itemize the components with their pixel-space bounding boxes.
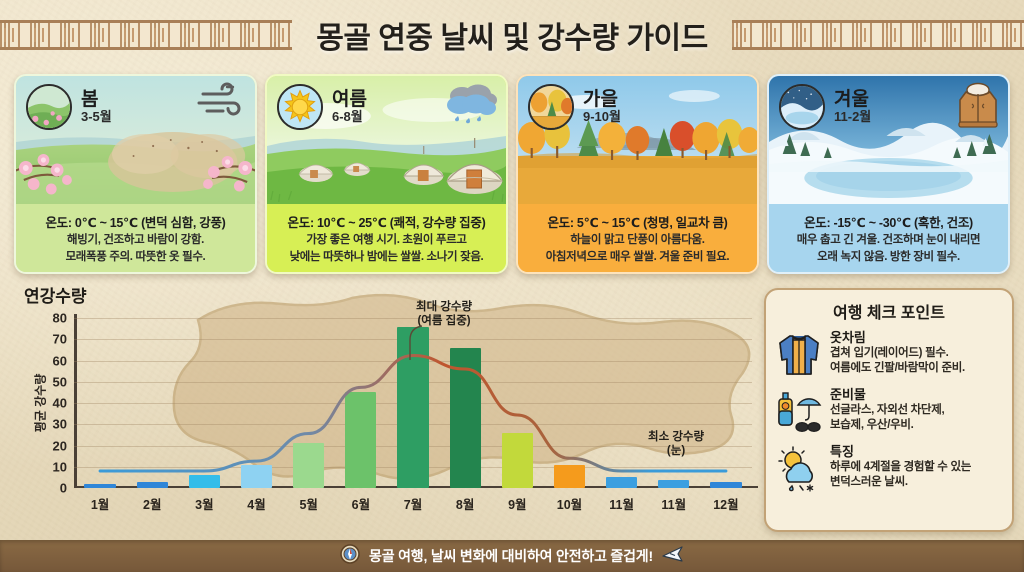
x-tick-label: 1월 (91, 494, 109, 513)
season-name: 겨울 (834, 90, 871, 110)
spring-info: 온도: 0℃ ~ 15℃ (변덕 심함, 강풍) 해빙기, 건조하고 바람이 강… (16, 204, 255, 272)
y-tick-label: 40 (53, 396, 67, 411)
x-tick-label: 6월 (352, 494, 370, 513)
season-card-winter[interactable]: 겨울 11-2월 온도: (767, 74, 1010, 274)
autumn-badge-row: 가을 9-10월 (528, 84, 747, 130)
season-desc-1: 가장 좋은 여행 시기. 초원이 푸르고 (306, 233, 466, 248)
check-item-body-2: 변덕스러운 날씨. (830, 475, 971, 490)
spring-scene: 봄 3-5월 (16, 76, 255, 204)
y-tick-label: 10 (53, 459, 67, 474)
y-tick-label: 30 (53, 417, 67, 432)
season-name: 가을 (583, 90, 621, 110)
greek-key-border-icon (732, 20, 1024, 50)
airplane-icon (662, 544, 684, 569)
y-tick-label: 20 (53, 438, 67, 453)
bar (606, 477, 637, 488)
annotation-min: 최소 강수량 (눈) (648, 430, 704, 459)
y-axis-label: 평균 강수량 (32, 374, 49, 433)
snow-night-thumb-icon (779, 84, 825, 130)
season-card-autumn[interactable]: 가을 9-10월 온도: 5℃ ~ 15℃ (청명, 일교차 큼) 하늘이 맑고… (516, 74, 759, 274)
season-name: 봄 (81, 90, 112, 110)
x-tick-label: 8월 (456, 494, 474, 513)
season-months: 9-10월 (583, 110, 621, 125)
season-months: 11-2월 (834, 110, 871, 125)
travel-check-panel: 여행 체크 포인트 옷차림 겹쳐 입기(레이어드) 필수. 여름에도 긴팔/바람… (764, 288, 1014, 532)
greek-key-border-icon (0, 20, 292, 50)
winter-info: 온도: -15℃ ~ -30℃ (혹한, 건조) 매우 춥고 긴 겨울. 건조하… (769, 204, 1008, 272)
bar (710, 482, 741, 488)
x-tick-label: 10월 (557, 494, 582, 513)
bar (450, 348, 481, 488)
annotation-max-leader (404, 324, 444, 364)
bar (293, 443, 324, 488)
check-item-body-1: 겹쳐 입기(레이어드) 필수. (830, 346, 965, 361)
check-item-supplies: 준비물 선글라스, 자외선 차단제, 보습제, 우산/우비. (776, 387, 1002, 435)
autumn-scene: 가을 9-10월 (518, 76, 757, 204)
chart-title: 연강수량 (24, 282, 87, 307)
bar (345, 392, 376, 488)
infographic-page: 몽골 연중 날씨 및 강수량 가이드 (0, 0, 1024, 572)
check-panel-title: 여행 체크 포인트 (776, 299, 1002, 323)
season-months: 6-8월 (332, 110, 367, 125)
bar (658, 480, 689, 489)
check-item-head: 옷차림 (830, 330, 965, 346)
summer-scene: 여름 6-8월 (267, 76, 506, 204)
bar (502, 433, 533, 488)
page-title: 몽골 연중 날씨 및 강수량 가이드 (306, 13, 717, 57)
sun-cloud-rain-snow-icon (776, 444, 822, 492)
parka-coat-icon (956, 82, 1000, 137)
check-item-body-1: 선글라스, 자외선 차단제, (830, 403, 944, 418)
rain-cloud-icon (442, 82, 498, 131)
x-tick-label: 4월 (247, 494, 265, 513)
compass-icon (340, 544, 360, 569)
season-card-spring[interactable]: 봄 3-5월 온도: 0℃ ~ 15℃ (14, 74, 257, 274)
autumn-info: 온도: 5℃ ~ 15℃ (청명, 일교차 큼) 하늘이 맑고 단풍이 아름다움… (518, 204, 757, 272)
season-card-summer[interactable]: 여름 6-8월 (265, 74, 508, 274)
check-item-head: 특징 (830, 444, 971, 460)
autumn-forest-thumb-icon (528, 84, 574, 130)
sunscreen-umbrella-sunglasses-icon (776, 387, 822, 435)
season-temp: 온도: -15℃ ~ -30℃ (혹한, 건조) (804, 212, 973, 231)
check-item-body-2: 보습제, 우산/우비. (830, 418, 944, 433)
bar (137, 482, 168, 488)
season-desc-2: 오래 녹지 않음. 방한 장비 필수. (817, 250, 960, 265)
season-temp: 온도: 0℃ ~ 15℃ (변덕 심함, 강풍) (45, 212, 225, 231)
check-item-head: 준비물 (830, 387, 944, 403)
season-desc-2: 낮에는 따뜻하나 밤에는 쌀쌀. 소나기 잦음. (290, 250, 484, 265)
x-tick-label: 7월 (404, 494, 422, 513)
season-name: 여름 (332, 90, 367, 110)
check-item-clothing: 옷차림 겹쳐 입기(레이어드) 필수. 여름에도 긴팔/바람막이 준비. (776, 330, 1002, 378)
summer-info: 온도: 10℃ ~ 25℃ (쾌적, 강수량 집중) 가장 좋은 여행 시기. … (267, 204, 506, 272)
y-tick-label: 80 (53, 311, 67, 326)
y-tick-label: 0 (60, 481, 67, 496)
season-desc-2: 모래폭풍 주의. 따뜻한 옷 필수. (66, 250, 206, 265)
season-temp: 온도: 10℃ ~ 25℃ (쾌적, 강수량 집중) (288, 212, 486, 231)
header: 몽골 연중 날씨 및 강수량 가이드 (0, 0, 1024, 70)
check-item-body-1: 하루에 4계절을 경험할 수 있는 (830, 460, 971, 475)
sun-thumb-icon (277, 84, 323, 130)
bar (241, 465, 272, 488)
bar (554, 465, 585, 488)
season-months: 3-5월 (81, 110, 112, 125)
x-tick-label: 11월 (609, 494, 634, 513)
bar (84, 484, 115, 488)
season-temp: 온도: 5℃ ~ 15℃ (청명, 일교차 큼) (547, 212, 727, 231)
wind-icon (197, 82, 247, 123)
x-tick-label: 2월 (143, 494, 161, 513)
season-desc-1: 하늘이 맑고 단풍이 아름다움. (570, 233, 704, 248)
x-tick-label: 5월 (299, 494, 317, 513)
y-tick-label: 50 (53, 374, 67, 389)
season-desc-1: 해빙기, 건조하고 바람이 강함. (67, 233, 204, 248)
x-tick-label: 9월 (508, 494, 526, 513)
season-desc-2: 아침저녁으로 매우 쌀쌀. 겨울 준비 필요. (546, 250, 730, 265)
x-tick-label: 11월 (661, 494, 686, 513)
x-tick-label: 3월 (195, 494, 213, 513)
x-tick-label: 12월 (713, 494, 738, 513)
winter-scene: 겨울 11-2월 (769, 76, 1008, 204)
season-desc-1: 매우 춥고 긴 겨울. 건조하며 눈이 내리면 (797, 233, 981, 248)
check-item-characteristics: 특징 하루에 4계절을 경험할 수 있는 변덕스러운 날씨. (776, 444, 1002, 492)
footer-bar: 몽골 여행, 날씨 변화에 대비하여 안전하고 즐겁게! (0, 540, 1024, 572)
gridline (74, 318, 752, 319)
spring-meadow-thumb-icon (26, 84, 72, 130)
footer-text: 몽골 여행, 날씨 변화에 대비하여 안전하고 즐겁게! (369, 546, 653, 566)
y-tick-label: 70 (53, 332, 67, 347)
check-item-body-2: 여름에도 긴팔/바람막이 준비. (830, 361, 965, 376)
y-tick-label: 60 (53, 353, 67, 368)
season-cards: 봄 3-5월 온도: 0℃ ~ 15℃ (14, 74, 1010, 274)
bar (189, 475, 220, 488)
precipitation-chart: 연강수량 평균 강수량 01020304050607080 1월2월3월4월5월… (12, 282, 760, 534)
jacket-icon (776, 330, 822, 378)
